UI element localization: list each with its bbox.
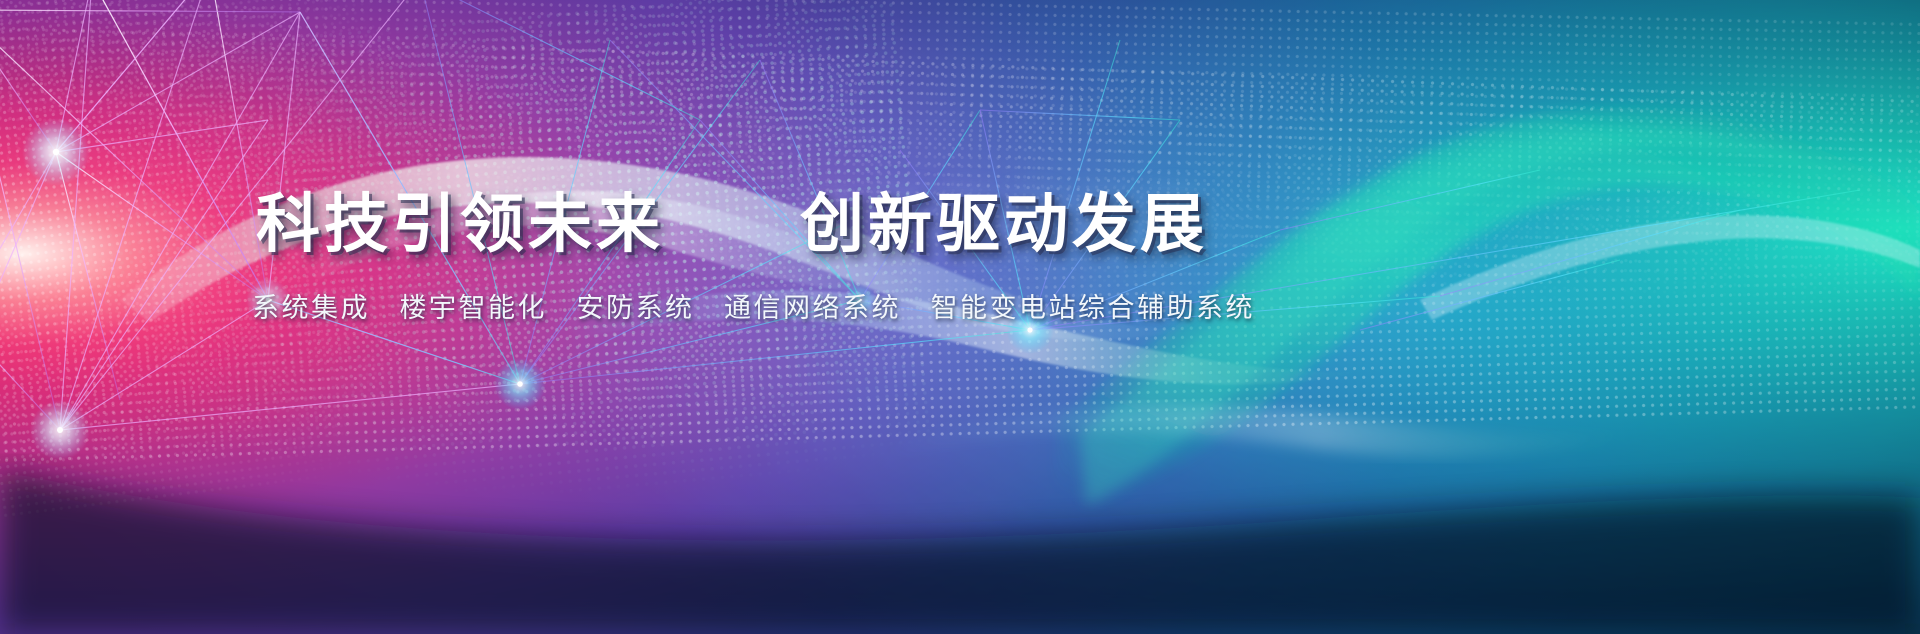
- banner-root: 科技引领未来 创新驱动发展 系统集成 楼宇智能化 安防系统 通信网络系统 智能变…: [0, 0, 1920, 634]
- banner-subline: 系统集成 楼宇智能化 安防系统 通信网络系统 智能变电站综合辅助系统: [252, 290, 1255, 326]
- banner-copy: 科技引领未来 创新驱动发展 系统集成 楼宇智能化 安防系统 通信网络系统 智能变…: [0, 0, 1920, 634]
- banner-headline: 科技引领未来 创新驱动发展: [256, 186, 1208, 262]
